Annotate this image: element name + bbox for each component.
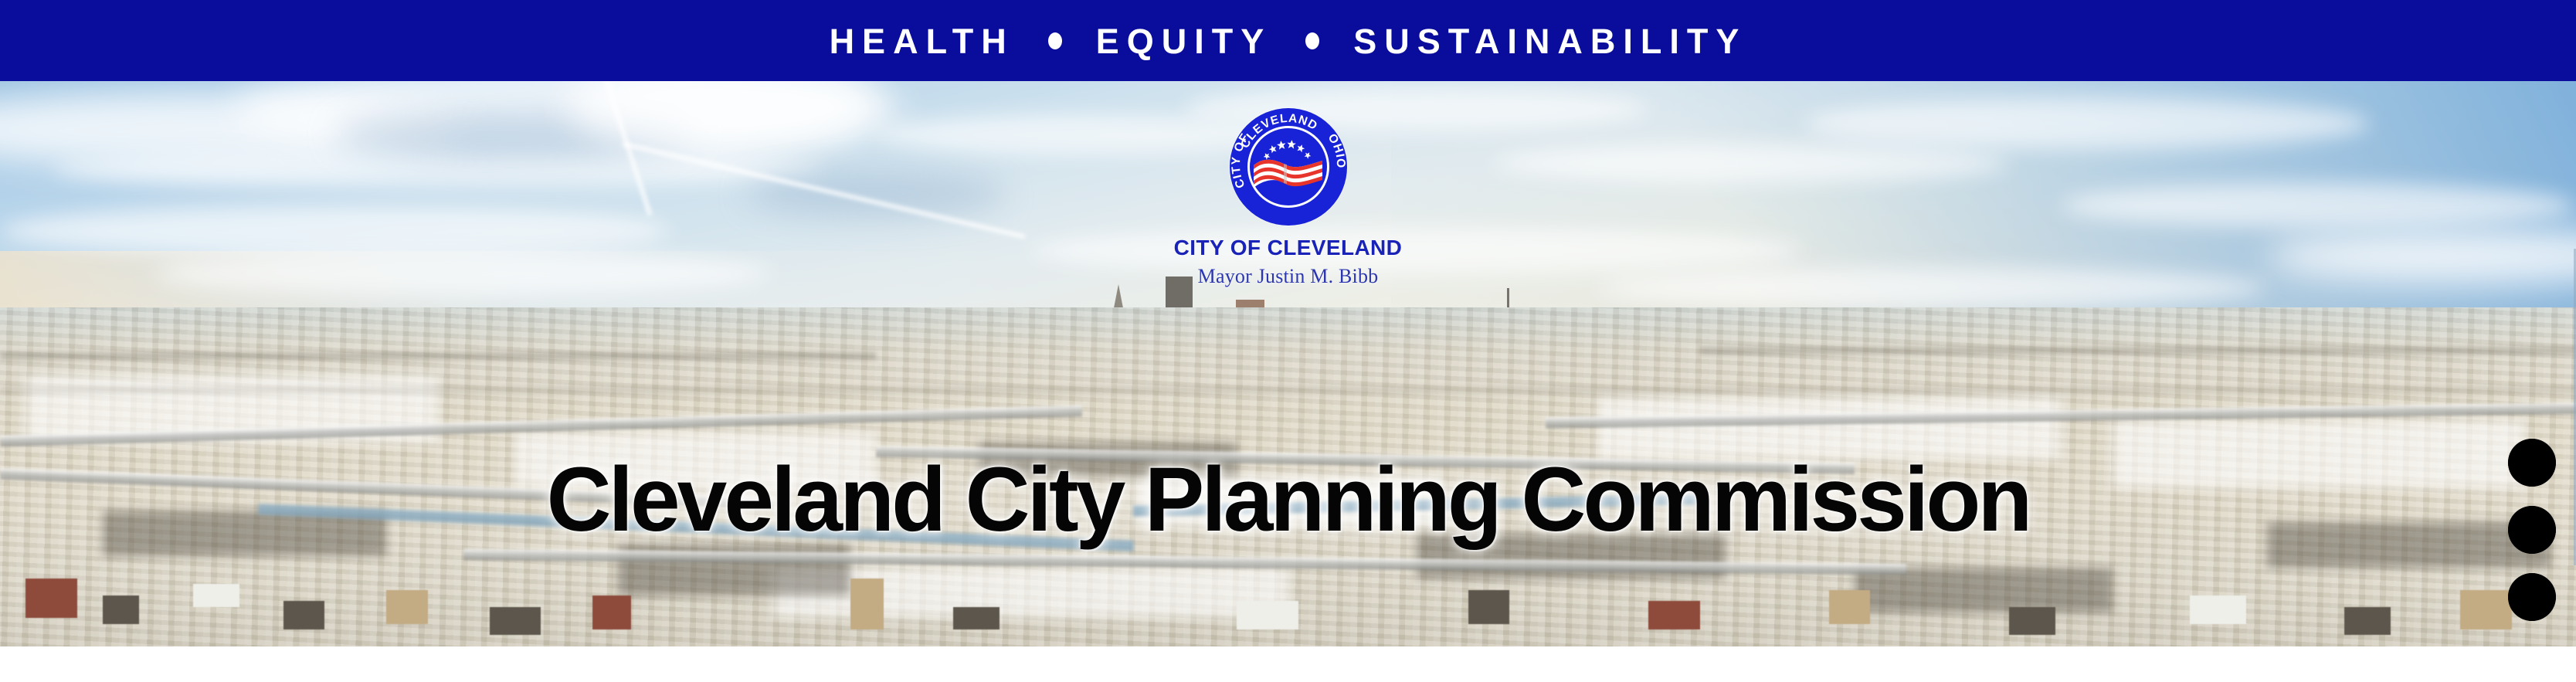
sprawl-band (1700, 347, 2576, 355)
building-roof (2009, 607, 2055, 636)
building-roof (850, 579, 884, 629)
building-roof (25, 579, 77, 618)
tagline-word-equity: EQUITY (1096, 24, 1272, 59)
building-roof (103, 595, 139, 624)
facebook-icon[interactable] (2508, 573, 2556, 621)
building-roof (283, 601, 324, 629)
logo-subcaption: Mayor Justin M. Bibb (1198, 265, 1379, 288)
instagram-icon[interactable] (2508, 506, 2556, 554)
tagline-inner: HEALTH EQUITY SUSTAINABILITY (830, 24, 1747, 59)
page-root: HEALTH EQUITY SUSTAINABILITY (0, 0, 2576, 682)
sprawl-band (0, 352, 876, 360)
social-links-rail (2507, 439, 2557, 621)
tagline-word-health: HEALTH (830, 24, 1014, 59)
building-roof (1829, 590, 1870, 624)
bullet-dot-icon (1305, 32, 1319, 49)
snow-field (2113, 420, 2525, 488)
city-of-cleveland-seal-icon[interactable]: CITY OF CLEVELAND OHIO (1230, 108, 1347, 226)
snow-field (515, 432, 876, 488)
building-roof (2344, 607, 2391, 636)
youtube-icon[interactable] (2508, 439, 2556, 487)
city-logo-block[interactable]: CITY OF CLEVELAND OHIO CITY OF CLEVELAND… (0, 108, 2576, 288)
snow-field (1597, 398, 2061, 460)
building-roof (953, 607, 1000, 629)
building-roof (2460, 590, 2512, 629)
building-roof (193, 584, 239, 606)
tagline-word-sustainability: SUSTAINABILITY (1353, 24, 1746, 59)
bullet-dot-icon (1048, 32, 1062, 49)
building-roof (1648, 601, 1700, 629)
building-roof (1468, 590, 1509, 624)
building-roof (386, 590, 427, 624)
svg-text:OHIO: OHIO (1325, 131, 1346, 168)
tagline-bar: HEALTH EQUITY SUSTAINABILITY (0, 0, 2576, 81)
seal-artwork: CITY OF CLEVELAND OHIO (1230, 108, 1347, 226)
building-roof (2190, 595, 2246, 624)
building-roof (490, 607, 541, 636)
logo-caption: CITY OF CLEVELAND (1174, 236, 1403, 260)
sprawl-band (0, 386, 2576, 394)
building-roof (1237, 601, 1298, 629)
building-roof (592, 595, 631, 629)
